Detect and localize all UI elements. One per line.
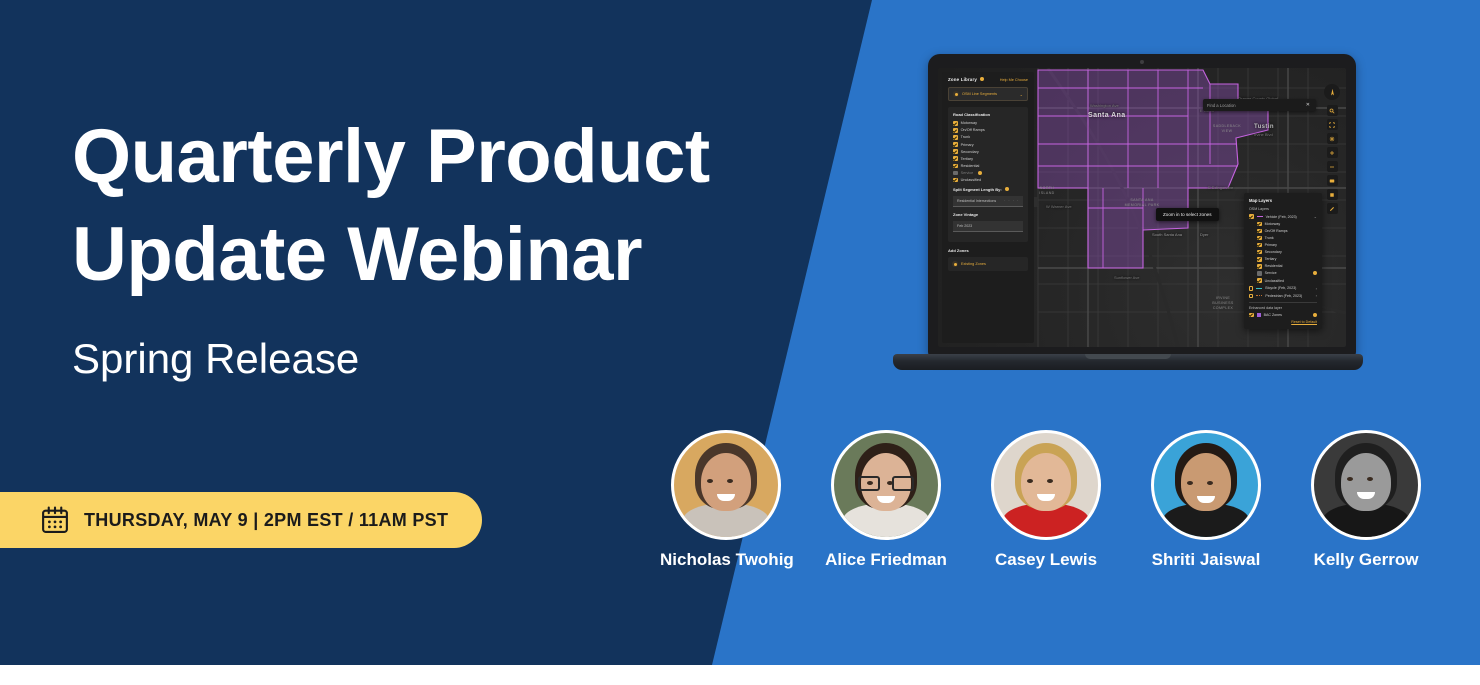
enhanced-layer-title: Enhanced data layer <box>1249 306 1317 310</box>
road-class-label: Tertiary <box>961 157 973 161</box>
sidebar-collapse-handle[interactable] <box>1034 197 1038 207</box>
date-badge: THURSDAY, MAY 9 | 2PM EST / 11AM PST <box>0 492 482 548</box>
road-classification-card: Road Classification MotorwayOn/Off Ramps… <box>948 107 1028 242</box>
laptop-mockup: Santa Ana Tustin Irvine SANTA ANA MEMORI… <box>893 54 1363 384</box>
map-street-edinger: E Edinger Ave <box>1208 185 1233 190</box>
road-class-row[interactable]: Secondary <box>953 149 1023 154</box>
vehicle-sublayer-row[interactable]: On/Off Ramps <box>1257 229 1317 234</box>
fullscreen-icon[interactable] <box>1327 119 1338 130</box>
split-segment-dots: · · · · <box>1004 199 1019 203</box>
road-class-row[interactable]: Trunk <box>953 135 1023 140</box>
split-info-icon[interactable] <box>1005 187 1009 191</box>
zoom-out-icon[interactable] <box>1327 161 1338 172</box>
edit-icon[interactable] <box>1327 203 1338 214</box>
sublayer-checkbox[interactable] <box>1257 271 1262 276</box>
road-classification-title: Road Classification <box>953 112 1023 117</box>
road-class-row[interactable]: On/Off Ramps <box>953 128 1023 133</box>
bicycle-line-swatch <box>1256 288 1262 289</box>
map-label-saddleback: SADDLEBACK VIEW <box>1210 124 1244 134</box>
sublayer-checkbox[interactable] <box>1257 257 1262 262</box>
date-badge-text: THURSDAY, MAY 9 | 2PM EST / 11AM PST <box>84 510 448 531</box>
segment-icon <box>953 91 959 97</box>
map-street-washington: Washington Ave <box>1090 103 1119 108</box>
speaker-card: Shriti Jaiswal <box>1140 430 1272 570</box>
sublayer-checkbox[interactable] <box>1257 264 1262 269</box>
split-segment-label: Split Segment Length By: <box>953 187 1002 192</box>
pedestrian-line-swatch <box>1256 295 1262 296</box>
sublayer-label: Motorway <box>1265 222 1317 226</box>
bac-zones-checkbox[interactable] <box>1249 313 1254 318</box>
zoom-in-icon[interactable] <box>1327 147 1338 158</box>
segment-type-value: OSM Line Segments <box>962 92 1017 96</box>
service-info-icon[interactable] <box>978 171 982 175</box>
road-class-checkbox[interactable] <box>953 149 958 154</box>
headline-line-1: Quarterly Product <box>72 108 772 206</box>
chevron-right-icon[interactable]: › <box>1316 286 1317 291</box>
help-me-choose-link[interactable]: Help Me Choose <box>1000 78 1028 82</box>
zone-vintage-value: Feb 2023 <box>957 224 972 228</box>
add-zones-title: Add Zones <box>948 248 1028 253</box>
split-segment-field[interactable]: Residential Intersections · · · · <box>953 196 1023 207</box>
map-label-south-santa-ana: South Santa Ana <box>1152 232 1182 237</box>
speaker-card: Casey Lewis <box>980 430 1112 570</box>
vehicle-sublayer-row[interactable]: Motorway <box>1257 222 1317 227</box>
zone-vintage-field[interactable]: Feb 2023 <box>953 221 1023 232</box>
road-class-row[interactable]: Unclassified <box>953 178 1023 183</box>
reset-to-default-link[interactable]: Reset to Default <box>1249 320 1317 324</box>
road-class-label: Primary <box>961 143 974 147</box>
map-street-sunflower: Sunflower Ave <box>1114 275 1140 280</box>
page-title: Quarterly Product Update Webinar <box>72 108 772 304</box>
sublayer-label: Secondary <box>1265 250 1317 254</box>
map-label-irvine-complex: IRVINE BUSINESS COMPLEX <box>1206 296 1240 311</box>
webcam-icon <box>1140 60 1144 64</box>
road-class-checkbox[interactable] <box>953 164 958 169</box>
pedestrian-layer-row[interactable]: Pedestrian (Feb, 2023) › <box>1249 293 1317 298</box>
avatar-face <box>674 433 778 537</box>
map-street-mcfadden: W Warner Ave <box>1046 204 1072 209</box>
sublayer-checkbox[interactable] <box>1257 243 1262 248</box>
sidebar-title-wrap: Zone Library <box>948 77 984 82</box>
chevron-down-icon: ⌄ <box>1020 92 1023 97</box>
calendar-icon <box>40 505 70 535</box>
road-class-checkbox[interactable] <box>953 178 958 183</box>
map-label-santa-ana: Santa Ana <box>1088 112 1126 119</box>
layers-divider <box>1249 302 1317 303</box>
map-toolbar <box>1324 84 1340 214</box>
speaker-name: Kelly Gerrow <box>1300 550 1432 570</box>
road-class-checkbox[interactable] <box>953 171 958 176</box>
search-icon[interactable] <box>1327 105 1338 116</box>
location-search[interactable]: Find a Location ✕ <box>1203 99 1316 111</box>
chevron-right-icon[interactable]: › <box>1316 293 1317 298</box>
speaker-name: Shriti Jaiswal <box>1140 550 1272 570</box>
avatar-face <box>1314 433 1418 537</box>
road-class-checkbox[interactable] <box>953 128 958 133</box>
road-class-label: Residential <box>961 164 980 168</box>
avatar <box>991 430 1101 540</box>
layers-icon[interactable] <box>1327 175 1338 186</box>
osm-layers-title: OSM Layers <box>1249 207 1317 211</box>
road-class-label: Unclassified <box>961 178 981 182</box>
headline-line-2: Update Webinar <box>72 206 772 304</box>
map-label-tustin: Tustin <box>1254 124 1274 130</box>
vehicle-sublayer-row[interactable]: Primary <box>1257 243 1317 248</box>
sublayer-checkbox[interactable] <box>1257 250 1262 255</box>
sublayer-label: Unclassified <box>1265 279 1317 283</box>
vehicle-line-swatch <box>1257 216 1263 217</box>
speaker-card: Nicholas Twohig <box>660 430 792 570</box>
close-icon[interactable]: ✕ <box>1306 102 1310 108</box>
map-tooltip: Zoom in to select zones <box>1156 208 1219 221</box>
map-label-dyer: Dyer <box>1200 232 1208 237</box>
segment-type-dropdown[interactable]: OSM Line Segments ⌄ <box>948 87 1028 101</box>
sublayer-label: Residential <box>1265 264 1317 268</box>
road-class-row[interactable]: Service <box>953 171 1023 176</box>
speaker-name: Nicholas Twohig <box>660 550 792 570</box>
split-segment-value: Residential Intersections <box>957 199 996 203</box>
zone-vintage-title: Zone Vintage <box>953 212 1023 217</box>
road-class-label: Motorway <box>961 121 977 125</box>
vehicle-layer-row[interactable]: Vehicle (Feb, 2023) ⌄ <box>1249 214 1317 219</box>
chevron-down-icon[interactable]: ⌄ <box>1314 214 1317 219</box>
road-class-row[interactable]: Residential <box>953 164 1023 169</box>
compass-icon[interactable] <box>1324 84 1340 100</box>
vehicle-sublayer-row[interactable]: Unclassified <box>1257 278 1317 283</box>
avatar <box>1151 430 1261 540</box>
road-class-row[interactable]: Motorway <box>953 121 1023 126</box>
bac-zones-swatch <box>1257 313 1261 317</box>
avatar-face <box>834 433 938 537</box>
sublayer-checkbox[interactable] <box>1257 278 1262 283</box>
sidebar-title: Zone Library <box>948 77 977 82</box>
speaker-list: Nicholas TwohigAlice FriedmanCasey Lewis… <box>660 430 1460 605</box>
webinar-banner: Quarterly Product Update Webinar Spring … <box>0 0 1480 685</box>
speaker-name: Casey Lewis <box>980 550 1112 570</box>
avatar-face <box>1154 433 1258 537</box>
map-layers-title: Map Layers <box>1249 198 1317 203</box>
bac-info-icon[interactable] <box>1313 313 1317 317</box>
road-class-checkbox[interactable] <box>953 156 958 161</box>
split-segment-title: Split Segment Length By: <box>953 187 1023 192</box>
sidebar-header: Zone Library Help Me Choose <box>948 77 1028 82</box>
vehicle-sublayer-row[interactable]: Trunk <box>1257 236 1317 241</box>
laptop-lid: Santa Ana Tustin Irvine SANTA ANA MEMORI… <box>928 54 1356 357</box>
existing-zones-button[interactable]: Existing Zones <box>948 257 1028 271</box>
speaker-card: Kelly Gerrow <box>1300 430 1432 570</box>
pedestrian-layer-label: Pedestrian (Feb, 2023) <box>1265 294 1312 298</box>
sublayer-label: Service <box>1265 271 1308 275</box>
laptop-screen: Santa Ana Tustin Irvine SANTA ANA MEMORI… <box>938 68 1346 347</box>
bookmark-icon[interactable] <box>1327 189 1338 200</box>
avatar-face <box>994 433 1098 537</box>
road-class-label: On/Off Ramps <box>961 128 985 132</box>
bac-zones-label: BAC Zones <box>1264 313 1308 317</box>
vehicle-sublayer-row[interactable]: Residential <box>1257 264 1317 269</box>
sublayer-checkbox[interactable] <box>1257 222 1262 227</box>
road-class-label: Trunk <box>961 135 971 139</box>
speaker-name: Alice Friedman <box>820 550 952 570</box>
search-input[interactable]: Find a Location <box>1207 103 1306 108</box>
zone-library-sidebar: Zone Library Help Me Choose OSM Line Seg… <box>942 72 1034 343</box>
road-class-label: Service <box>961 171 974 175</box>
locate-icon[interactable] <box>1327 133 1338 144</box>
map-street-irvine-blvd: Irvine Blvd <box>1254 132 1273 137</box>
road-class-checkbox[interactable] <box>953 142 958 147</box>
road-class-list: MotorwayOn/Off RampsTrunkPrimarySecondar… <box>953 121 1023 182</box>
map-label-memorial-park: SANTA ANA MEMORIAL PARK <box>1122 198 1162 208</box>
vehicle-sublayer-list: MotorwayOn/Off RampsTrunkPrimarySecondar… <box>1257 222 1317 283</box>
existing-zones-label: Existing Zones <box>961 262 986 266</box>
road-class-row[interactable]: Primary <box>953 142 1023 147</box>
bottom-white-strip <box>0 665 1480 685</box>
sublayer-checkbox[interactable] <box>1257 229 1262 234</box>
speaker-card: Alice Friedman <box>820 430 952 570</box>
road-class-checkbox[interactable] <box>953 135 958 140</box>
map-label-north-island: NORTH ISLAND <box>1034 186 1060 196</box>
bicycle-layer-label: Bicycle (Feb, 2023) <box>1265 286 1312 290</box>
sublayer-info-icon[interactable] <box>1313 271 1317 275</box>
existing-zones-icon <box>952 261 958 267</box>
vehicle-sublayer-row[interactable]: Tertiary <box>1257 257 1317 262</box>
bicycle-layer-row[interactable]: Bicycle (Feb, 2023) › <box>1249 286 1317 291</box>
sublayer-label: Primary <box>1265 243 1317 247</box>
laptop-base <box>893 354 1363 370</box>
sublayer-label: Trunk <box>1265 236 1317 240</box>
road-class-checkbox[interactable] <box>953 121 958 126</box>
avatar <box>1311 430 1421 540</box>
info-icon[interactable] <box>980 77 984 81</box>
map-layers-panel: Map Layers OSM Layers Vehicle (Feb, 2023… <box>1244 193 1322 329</box>
vehicle-checkbox[interactable] <box>1249 214 1254 219</box>
vehicle-sublayer-row[interactable]: Service <box>1257 271 1317 276</box>
sublayer-checkbox[interactable] <box>1257 236 1262 241</box>
glasses-icon <box>858 476 914 491</box>
vehicle-layer-label: Vehicle (Feb, 2023) <box>1266 215 1311 219</box>
pedestrian-checkbox[interactable] <box>1249 294 1253 298</box>
avatar <box>671 430 781 540</box>
road-class-label: Secondary <box>961 150 979 154</box>
bicycle-checkbox[interactable] <box>1249 286 1253 290</box>
sublayer-label: On/Off Ramps <box>1265 229 1317 233</box>
subtitle: Spring Release <box>72 332 359 386</box>
bac-zones-row[interactable]: BAC Zones <box>1249 313 1317 318</box>
road-class-row[interactable]: Tertiary <box>953 156 1023 161</box>
vehicle-sublayer-row[interactable]: Secondary <box>1257 250 1317 255</box>
avatar <box>831 430 941 540</box>
sublayer-label: Tertiary <box>1265 257 1317 261</box>
